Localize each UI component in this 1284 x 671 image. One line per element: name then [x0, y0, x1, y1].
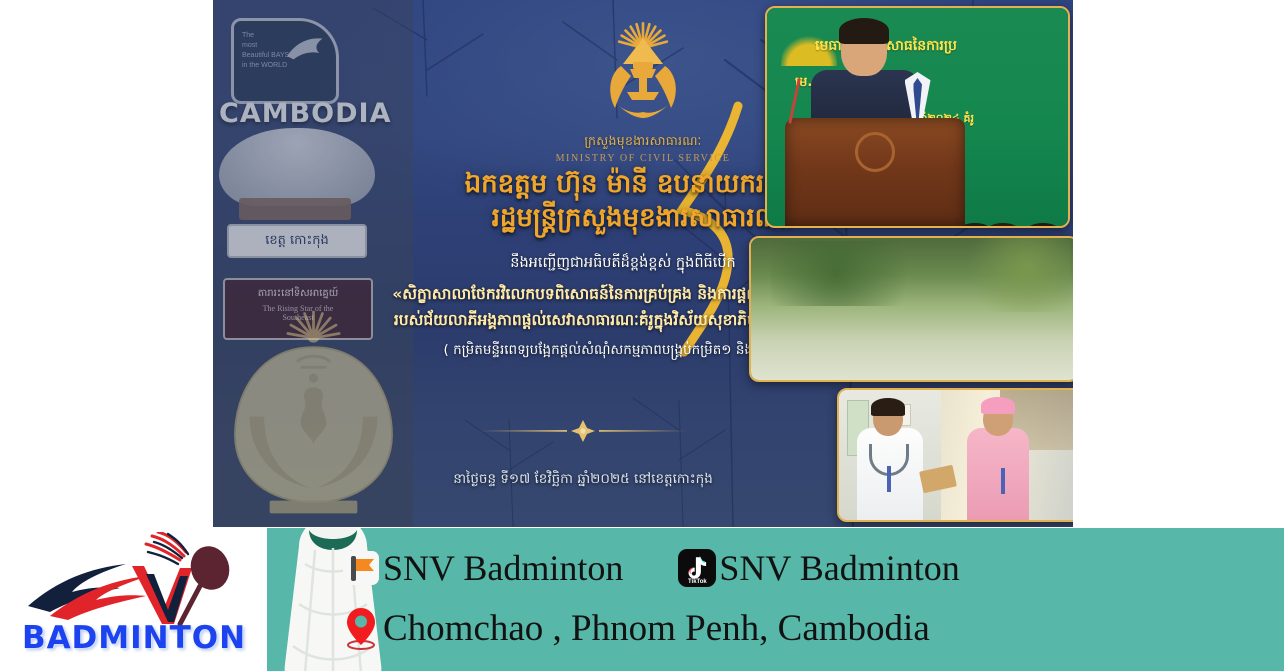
facebook-page-flag-icon[interactable]	[339, 546, 383, 590]
speaker-hair	[839, 18, 889, 44]
royal-cambodia-emblem-icon	[597, 18, 689, 126]
patient-lanyard	[1001, 468, 1005, 494]
location-row: Chomchao , Phnom Penh, Cambodia	[339, 606, 930, 650]
badminton-wordmark: BADMINTON	[10, 620, 258, 656]
patient-head-cover	[981, 397, 1015, 414]
contact-banner: SNV Badminton TikTok SNV Badminton	[267, 528, 1284, 671]
photo-speaker-podium: មេធាវីកមនពិសោធនៃការប្រ មេ... អង្គភាពផ្តល…	[765, 6, 1070, 228]
wooden-podium	[785, 118, 965, 226]
photo-nurses-group	[749, 236, 1073, 382]
tiktok-label: TikTok	[678, 579, 716, 585]
location-pin-icon[interactable]	[339, 606, 383, 650]
screenshot-root: The most Beautiful BAYS in the WORLD CAM…	[0, 0, 1284, 671]
event-poster: The most Beautiful BAYS in the WORLD CAM…	[213, 0, 1073, 527]
patient-scrubs	[967, 428, 1029, 520]
tiktok-icon[interactable]: TikTok	[675, 546, 719, 590]
left-gutter	[0, 0, 213, 528]
photo-doctor-patient	[837, 388, 1073, 522]
tiktok-account-name[interactable]: SNV Badminton	[719, 550, 959, 586]
gold-ornament-divider-icon	[473, 418, 693, 444]
facebook-page-name[interactable]: SNV Badminton	[383, 550, 623, 586]
badminton-logo-panel: BADMINTON	[0, 528, 267, 671]
doctor-lanyard	[887, 466, 891, 492]
snv-badminton-logo-icon	[14, 532, 254, 632]
location-text[interactable]: Chomchao , Phnom Penh, Cambodia	[383, 610, 930, 647]
dateline-text: នាថ្ងៃចន្ទ ទី១៧ ខែវិច្ឆិកា ឆ្នាំ២០២៥ នៅខ…	[453, 471, 713, 487]
doctor-hair	[871, 398, 905, 416]
right-gutter	[1073, 0, 1284, 528]
social-links-row: SNV Badminton TikTok SNV Badminton	[339, 546, 960, 590]
